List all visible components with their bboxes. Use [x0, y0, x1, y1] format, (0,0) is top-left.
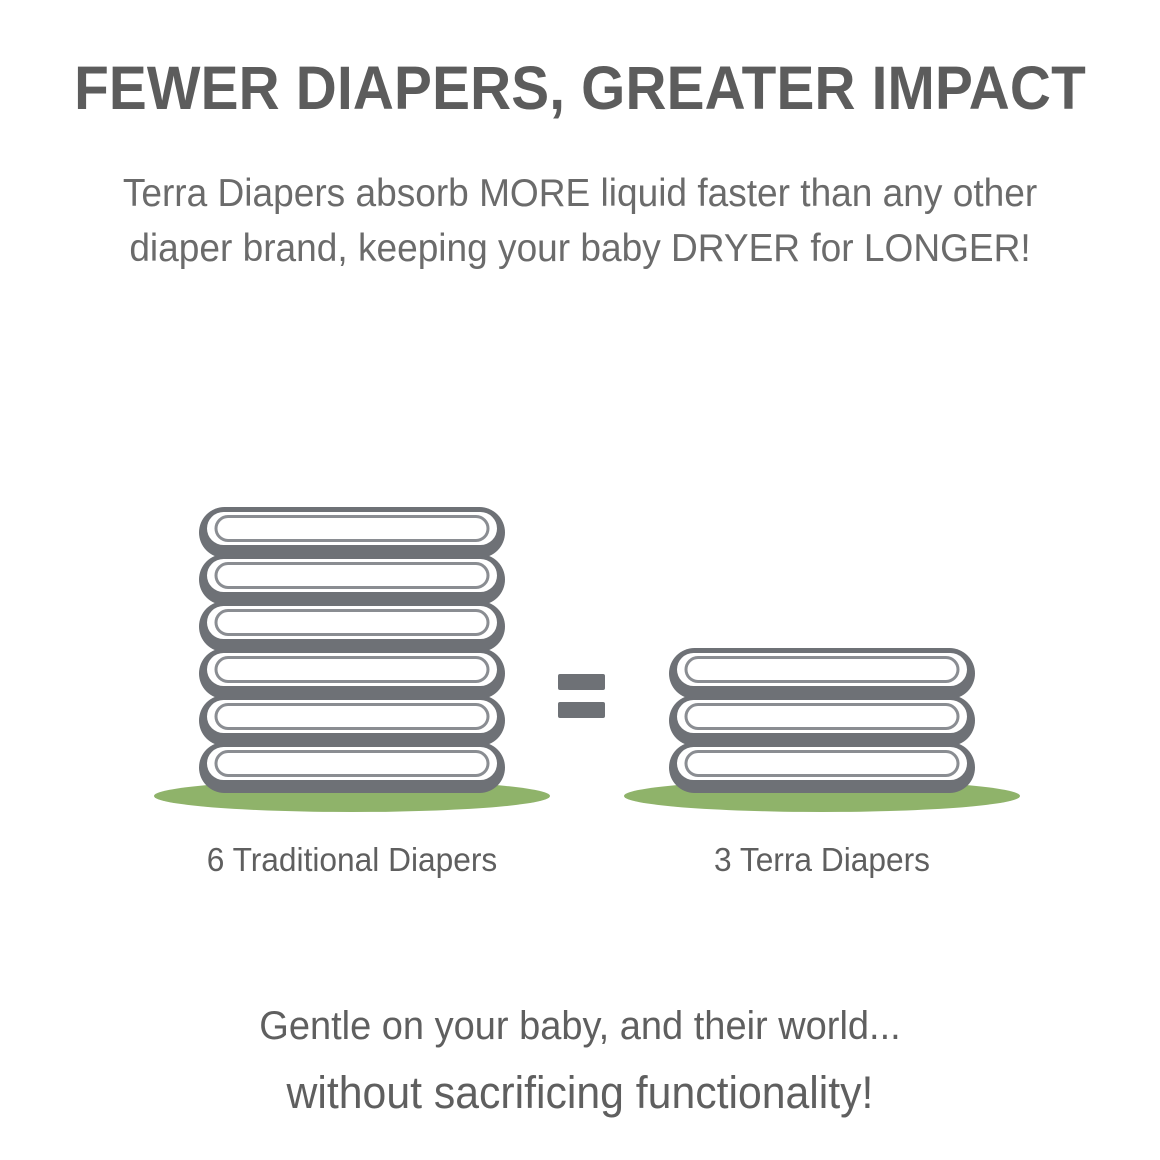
grass-ellipse-icon-right — [624, 780, 1020, 812]
subheading-line-1: Terra Diapers absorb MORE liquid faster … — [29, 166, 1131, 221]
caption-left: 6 Traditional Diapers — [160, 840, 544, 880]
diaper-item — [199, 554, 505, 605]
diaper-item — [199, 695, 505, 746]
grass-ellipse-icon-left — [154, 780, 550, 812]
footer-line-2: without sacrificing functionality! — [29, 1066, 1131, 1120]
diaper-item — [199, 742, 505, 793]
page-title: FEWER DIAPERS, GREATER IMPACT — [41, 52, 1120, 124]
equals-sign-icon — [558, 674, 605, 718]
subheading: Terra Diapers absorb MORE liquid faster … — [29, 166, 1131, 276]
caption-right: 3 Terra Diapers — [630, 840, 1014, 880]
diaper-item — [669, 742, 975, 793]
diaper-stack-left — [199, 507, 505, 793]
diaper-item — [669, 648, 975, 699]
diaper-item — [199, 601, 505, 652]
footer-line-1: Gentle on your baby, and their world... — [29, 1002, 1131, 1050]
subheading-line-2: diaper brand, keeping your baby DRYER fo… — [29, 221, 1131, 276]
diaper-item — [669, 695, 975, 746]
diaper-stack-right — [669, 648, 975, 793]
diaper-item — [199, 648, 505, 699]
infographic-page: FEWER DIAPERS, GREATER IMPACT Terra Diap… — [0, 0, 1160, 1160]
diaper-item — [199, 507, 505, 558]
